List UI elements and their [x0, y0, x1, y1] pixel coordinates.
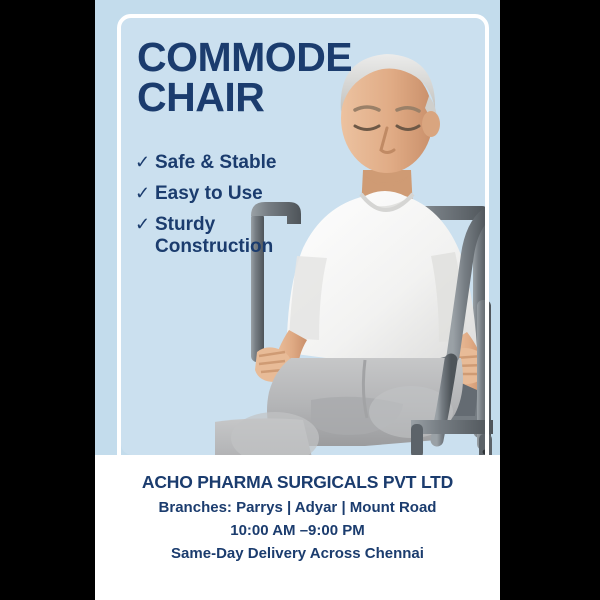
- list-item: ✓ Sturdy Construction: [135, 214, 320, 258]
- feature-label: Easy to Use: [155, 183, 263, 205]
- list-item: ✓ Safe & Stable: [135, 152, 320, 174]
- page-title: COMMODE CHAIR: [137, 38, 352, 118]
- check-icon: ✓: [135, 152, 155, 173]
- list-item: ✓ Easy to Use: [135, 183, 320, 205]
- footer-block: ACHO PHARMA SURGICALS PVT LTD Branches: …: [95, 455, 500, 600]
- branches-line: Branches: Parrys | Adyar | Mount Road: [95, 499, 500, 516]
- delivery-line: Same-Day Delivery Across Chennai: [95, 545, 500, 562]
- check-icon: ✓: [135, 183, 155, 204]
- check-icon: ✓: [135, 214, 155, 235]
- letterbox-left: [0, 0, 95, 600]
- company-name: ACHO PHARMA SURGICALS PVT LTD: [95, 472, 500, 493]
- feature-label: Sturdy Construction: [155, 214, 273, 258]
- hours-line: 10:00 AM –9:00 PM: [95, 522, 500, 539]
- poster-canvas: COMMODE CHAIR ✓ Safe & Stable ✓ Easy to …: [95, 0, 500, 600]
- feature-list: ✓ Safe & Stable ✓ Easy to Use ✓ Sturdy C…: [135, 152, 320, 266]
- feature-label: Safe & Stable: [155, 152, 276, 174]
- person-head: [341, 54, 440, 186]
- letterbox-right: [500, 0, 600, 600]
- poster-stage: COMMODE CHAIR ✓ Safe & Stable ✓ Easy to …: [0, 0, 600, 600]
